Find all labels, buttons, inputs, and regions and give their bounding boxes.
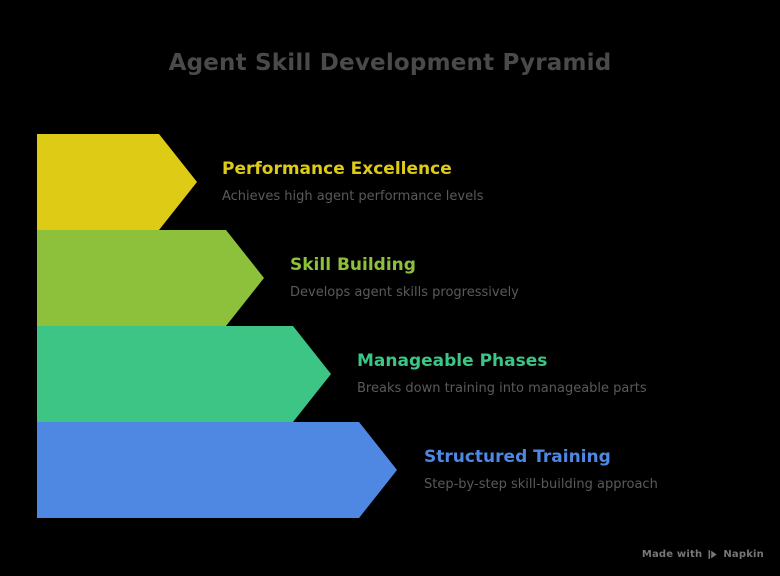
tier-description: Develops agent skills progressively (290, 285, 519, 301)
tier-text-block: Skill BuildingDevelops agent skills prog… (290, 230, 519, 326)
pyramid-tier[interactable]: Manageable PhasesBreaks down training in… (0, 326, 780, 422)
pyramid-tier[interactable]: Performance ExcellenceAchieves high agen… (0, 134, 780, 230)
tier-heading: Structured Training (424, 447, 658, 467)
napkin-watermark: Made with Napkin (642, 549, 764, 560)
pyramid-tier[interactable]: Structured TrainingStep-by-step skill-bu… (0, 422, 780, 518)
tier-heading: Performance Excellence (222, 159, 484, 179)
tier-description: Step-by-step skill-building approach (424, 477, 658, 493)
tier-arrow-shape[interactable] (37, 230, 264, 326)
tier-description: Achieves high agent performance levels (222, 189, 484, 205)
page-title: Agent Skill Development Pyramid (0, 50, 780, 76)
tier-arrow-shape[interactable] (37, 326, 331, 422)
tier-text-block: Performance ExcellenceAchieves high agen… (222, 134, 484, 230)
diagram-canvas: Agent Skill Development Pyramid Performa… (0, 0, 780, 576)
napkin-play-logo-icon (707, 549, 718, 560)
tier-text-block: Manageable PhasesBreaks down training in… (357, 326, 647, 422)
tier-heading: Manageable Phases (357, 351, 647, 371)
watermark-prefix-label: Made with (642, 549, 703, 560)
tier-text-block: Structured TrainingStep-by-step skill-bu… (424, 422, 658, 518)
tier-description: Breaks down training into manageable par… (357, 381, 647, 397)
pyramid-tier[interactable]: Skill BuildingDevelops agent skills prog… (0, 230, 780, 326)
tier-arrow-shape[interactable] (37, 422, 397, 518)
tier-arrow-shape[interactable] (37, 134, 197, 230)
tier-heading: Skill Building (290, 255, 519, 275)
watermark-brand-label: Napkin (723, 549, 764, 560)
